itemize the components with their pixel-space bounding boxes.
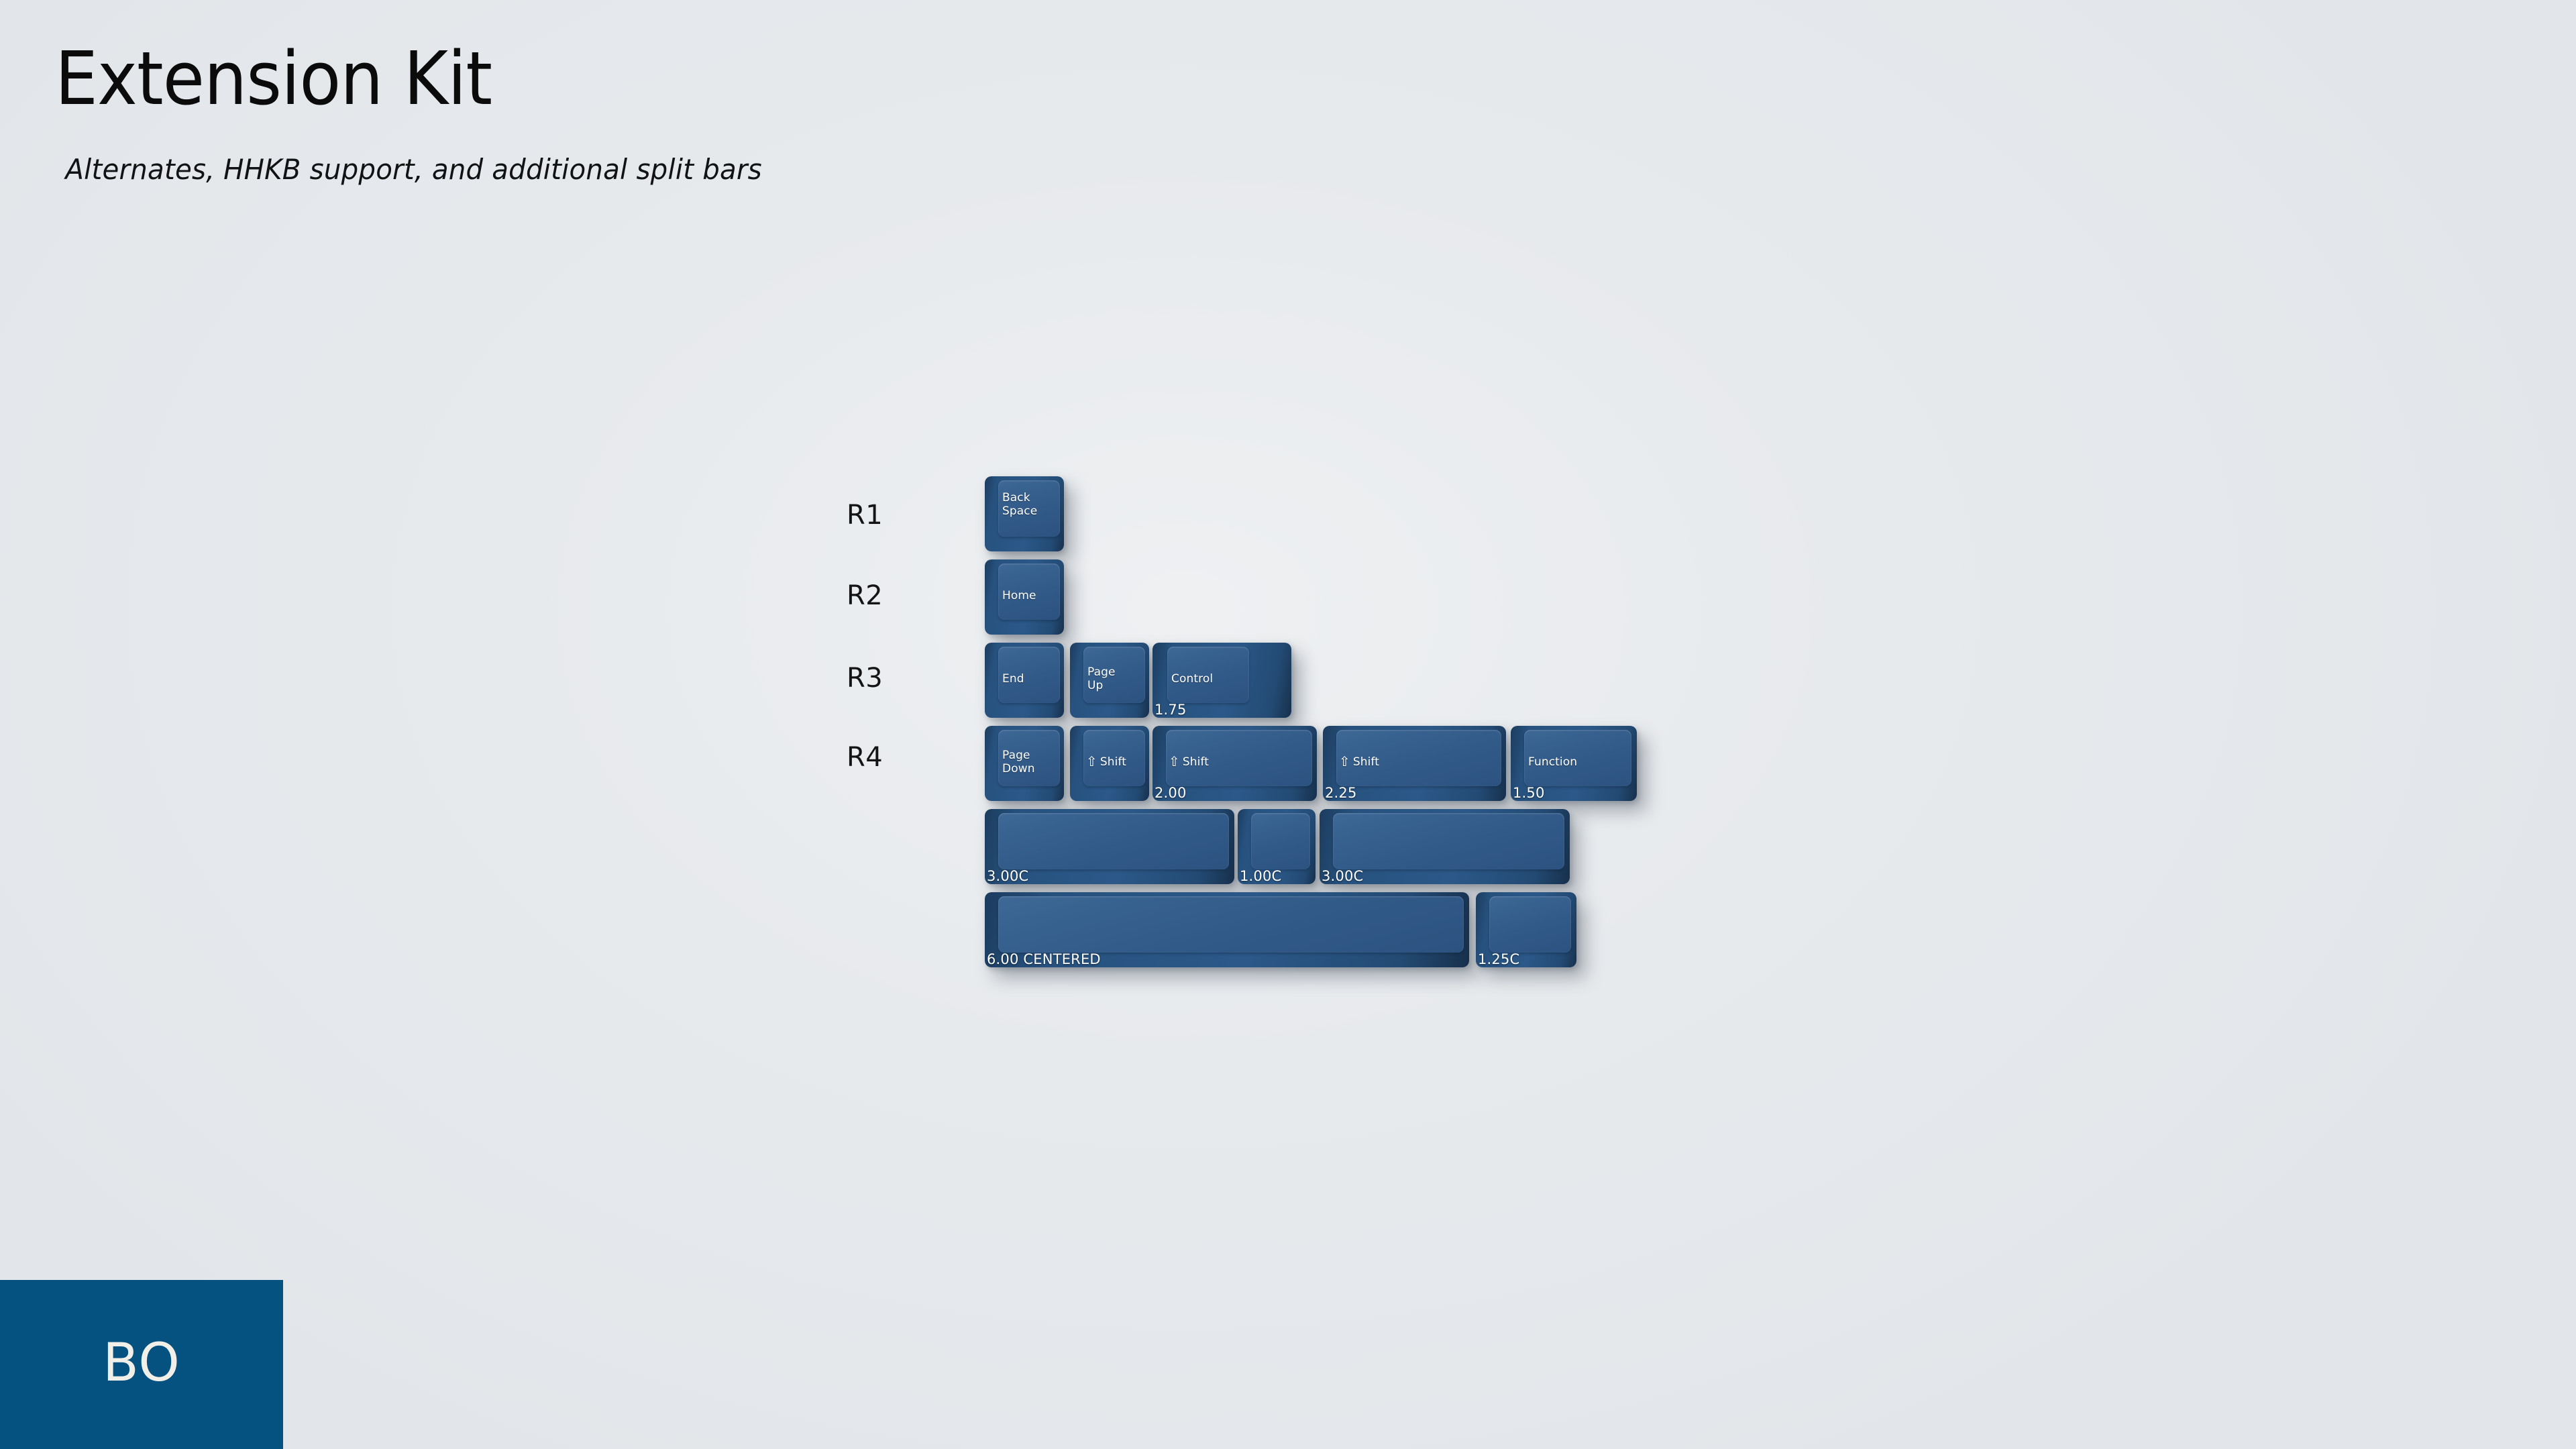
- keycap-top-surface: [1083, 647, 1145, 703]
- keycap-function[interactable]: Function: [1511, 726, 1637, 801]
- keycap-spacebar-6u-centered[interactable]: [985, 892, 1469, 967]
- keycap-page-down[interactable]: Page Down: [985, 726, 1064, 801]
- keycap-home[interactable]: Home: [985, 559, 1064, 635]
- keycap-top-surface: [998, 480, 1060, 537]
- keycap-split-bar-1u[interactable]: [1238, 809, 1316, 884]
- keycap-top-surface: [1489, 896, 1571, 953]
- brand-plate: BO: [0, 1280, 283, 1449]
- keycap-top-surface: [998, 813, 1229, 869]
- keycap-shift-2u[interactable]: ⇧Shift: [1152, 726, 1317, 801]
- keycap-top-surface: [1166, 730, 1312, 786]
- keycap-top-surface: [1083, 730, 1145, 786]
- keycap-top-surface: [1167, 647, 1249, 703]
- keycap-top-surface: [998, 896, 1464, 953]
- keycap-top-surface: [998, 563, 1060, 620]
- keycap-layout-diagram: R1R2R3R4Back SpaceHomeEndPage UpControl1…: [0, 0, 2576, 1449]
- keycap-top-surface: [1524, 730, 1631, 786]
- keycap-top-surface: [998, 730, 1060, 786]
- row-label-r3: R3: [847, 663, 883, 694]
- keycap-backspace[interactable]: Back Space: [985, 476, 1064, 551]
- keycap-split-bar-3u-left[interactable]: [985, 809, 1234, 884]
- keycap-top-surface: [998, 647, 1060, 703]
- keycap-shift-2-25u[interactable]: ⇧Shift: [1323, 726, 1506, 801]
- keycap-split-bar-3u-right[interactable]: [1320, 809, 1570, 884]
- brand-label: BO: [103, 1333, 180, 1393]
- keycap-control[interactable]: Control: [1152, 643, 1291, 718]
- row-label-r1: R1: [847, 500, 883, 531]
- keycap-modifier-1-25u[interactable]: [1476, 892, 1576, 967]
- row-label-r4: R4: [847, 742, 883, 773]
- keycap-end[interactable]: End: [985, 643, 1064, 718]
- keycap-top-surface: [1333, 813, 1564, 869]
- keycap-top-surface: [1336, 730, 1501, 786]
- keycap-top-surface: [1251, 813, 1310, 869]
- keycap-shift-1u[interactable]: ⇧Shift: [1070, 726, 1149, 801]
- keycap-page-up[interactable]: Page Up: [1070, 643, 1149, 718]
- row-label-r2: R2: [847, 580, 883, 611]
